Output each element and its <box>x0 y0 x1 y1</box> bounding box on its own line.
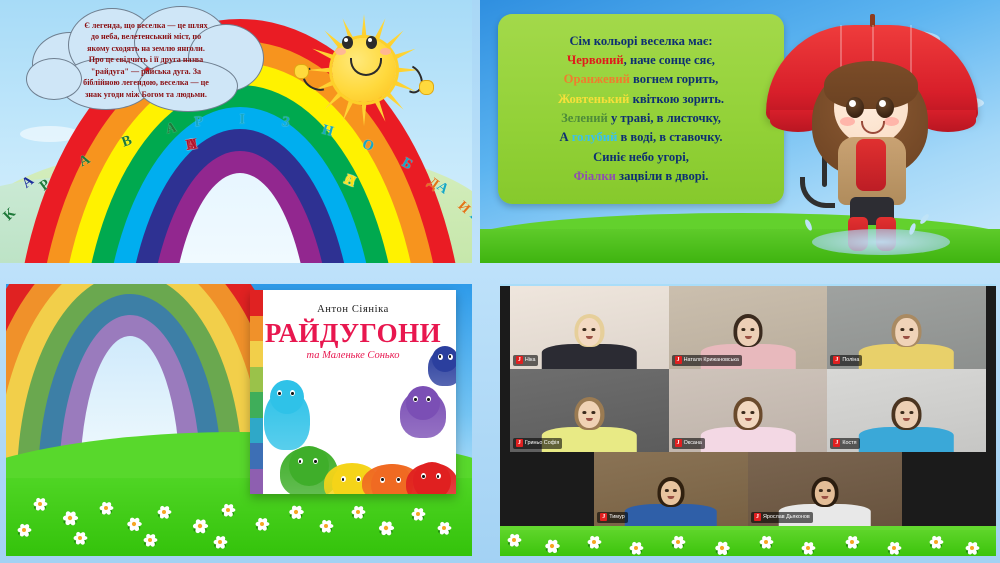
daisy-flower <box>32 496 48 512</box>
sun-eye-right <box>366 36 377 49</box>
poem-line: Жовтенький квіткою зорить. <box>498 90 784 109</box>
poem-line: Червоний, наче сонце сяє, <box>498 51 784 70</box>
video-row: JГриньо СофіяJОксанаJКостя <box>510 369 986 452</box>
daisy-flower <box>928 534 944 550</box>
girl-sweater <box>856 139 886 191</box>
mute-icon: J <box>833 439 840 447</box>
legend-cloud-text: Є легенда, що веселка — це шляхдо неба, … <box>83 20 209 100</box>
splash-drop <box>804 219 814 232</box>
poem-line: Оранжевий вогнем горить, <box>498 70 784 89</box>
sun-eye-left <box>342 36 353 49</box>
video-row: JНікаJНаталя КрижановськаJПоліна <box>510 286 986 369</box>
mute-icon: J <box>516 439 523 447</box>
video-tile[interactable]: JНіка <box>510 286 669 369</box>
daisy-flower <box>142 532 158 548</box>
girl-cheek-right <box>884 117 899 126</box>
mute-icon: J <box>600 513 607 521</box>
daisy-flower <box>212 534 228 550</box>
daisy-flower <box>16 522 32 538</box>
girl-fringe <box>824 61 918 109</box>
video-conference-grid[interactable]: JНікаJНаталя КрижановськаJПолінаJГриньо … <box>500 286 996 526</box>
daisy-flower <box>670 534 686 550</box>
panel-legend-rainbow: РАДІСНАЯСКРАВАЧАРІВНАРІЗНОБАРВНАДИВОВИЖН… <box>0 0 472 263</box>
daisy-flower <box>586 534 602 550</box>
video-tile[interactable]: JГриньо Софія <box>510 369 669 452</box>
video-tile[interactable]: JОксана <box>669 369 828 452</box>
participant-name: Поліна <box>842 357 859 364</box>
daisy-flower <box>318 518 334 534</box>
legend-cloud-bubble: Є легенда, що веселка — це шляхдо неба, … <box>26 6 266 112</box>
participant-name-tag: JЯрослав Дьяконов <box>751 512 813 523</box>
daisy-flower <box>544 538 561 555</box>
sun-cheek-left <box>335 48 346 55</box>
girl-with-red-umbrella <box>760 9 986 257</box>
participant-figure <box>542 308 637 369</box>
poem-line: Зелений у траві, в листочку, <box>498 109 784 128</box>
poem-line: А голубий в воді, в ставочку. <box>498 128 784 147</box>
participant-name-tag: JНіка <box>513 355 539 366</box>
participant-figure <box>859 390 954 451</box>
video-tile[interactable]: JТимур <box>594 452 748 526</box>
daisy-flower <box>72 530 88 546</box>
rainbow-colors-poem: Сім кольорі веселка має:Червоний, наче с… <box>498 14 784 204</box>
video-tile[interactable]: JПоліна <box>827 286 986 369</box>
poem-line: Фіалки зацвіли в дворі. <box>498 167 784 186</box>
grass-strip <box>500 530 996 556</box>
participant-figure <box>700 390 795 451</box>
sun-hand-left <box>294 64 309 79</box>
daisy-flower <box>714 540 731 556</box>
participant-figure <box>859 308 954 369</box>
daisy-flower <box>254 516 270 532</box>
water-puddle <box>812 229 950 255</box>
daisy-flower <box>844 534 860 550</box>
red-dragon <box>406 442 456 494</box>
participant-name-tag: JПоліна <box>830 355 862 366</box>
sun-hand-right <box>419 80 434 95</box>
participant-name-tag: JТимур <box>597 512 627 523</box>
daisy-flower <box>350 504 366 520</box>
daisy-flower <box>377 519 395 537</box>
daisy-flower <box>628 540 644 556</box>
splash-drop <box>919 213 931 225</box>
daisy-flower <box>886 540 902 556</box>
video-tile[interactable]: JКостя <box>827 369 986 452</box>
girl-eye-left <box>846 97 864 118</box>
daisy-flower <box>98 500 114 516</box>
daisy-flower <box>800 540 816 556</box>
book-author: Антон Сіяніка <box>250 304 456 315</box>
smiling-sun <box>308 14 420 126</box>
daisy-flower <box>191 517 209 535</box>
book-cover-raydugony: Антон Сіяніка РАЙДУГОНИ та Маленьке Сонь… <box>250 290 456 494</box>
mute-icon: J <box>833 356 840 364</box>
mute-icon: J <box>516 356 523 364</box>
video-tile[interactable]: JЯрослав Дьяконов <box>748 452 902 526</box>
video-tile[interactable]: JНаталя Крижановська <box>669 286 828 369</box>
panel-poem-girl: Сім кольорі веселка має:Червоний, наче с… <box>480 0 1000 263</box>
daisy-flower <box>288 504 305 521</box>
daisy-flower <box>436 520 452 536</box>
girl-cheek-left <box>840 117 855 126</box>
participant-name: Гриньо Софія <box>525 440 559 447</box>
panel-book-cover: Антон Сіяніка РАЙДУГОНИ та Маленьке Сонь… <box>6 284 472 556</box>
participant-name: Наталя Крижановська <box>684 357 739 364</box>
daisy-flower <box>506 532 522 548</box>
navy-dragon <box>428 330 456 386</box>
mute-icon: J <box>675 356 682 364</box>
daisy-flower <box>61 509 79 527</box>
participant-name-tag: JОксана <box>672 438 705 449</box>
mute-icon: J <box>675 439 682 447</box>
participant-name: Ярослав Дьяконов <box>763 514 810 521</box>
sun-cheek-right <box>380 48 391 55</box>
daisy-flower <box>156 504 172 520</box>
umbrella-hook <box>800 177 835 208</box>
participant-name: Тимур <box>609 514 624 521</box>
girl-eye-right <box>876 97 894 118</box>
poem-line: Сім кольорі веселка має: <box>498 32 784 51</box>
panel-zoom-meeting: JНікаJНаталя КрижановськаJПолінаJГриньо … <box>500 284 996 556</box>
video-row: JТимурJЯрослав Дьяконов <box>594 452 902 526</box>
book-title: РАЙДУГОНИ <box>250 318 456 349</box>
daisy-flower <box>126 516 143 533</box>
participant-name-tag: JГриньо Софія <box>513 438 562 449</box>
participant-name-tag: JКостя <box>830 438 859 449</box>
daisy-flower <box>964 540 980 556</box>
mute-icon: J <box>754 513 761 521</box>
participant-name: Ніка <box>525 357 536 364</box>
participant-name-tag: JНаталя Крижановська <box>672 355 742 366</box>
daisy-flower <box>410 506 426 522</box>
daisy-flower <box>758 534 774 550</box>
daisy-flower <box>220 502 236 518</box>
participant-figure <box>625 471 717 526</box>
participant-name: Оксана <box>684 440 702 447</box>
participant-name: Костя <box>842 440 856 447</box>
slide-canvas: РАДІСНАЯСКРАВАЧАРІВНАРІЗНОБАРВНАДИВОВИЖН… <box>0 0 1000 563</box>
poem-line: Синіє небо угорі, <box>498 148 784 167</box>
